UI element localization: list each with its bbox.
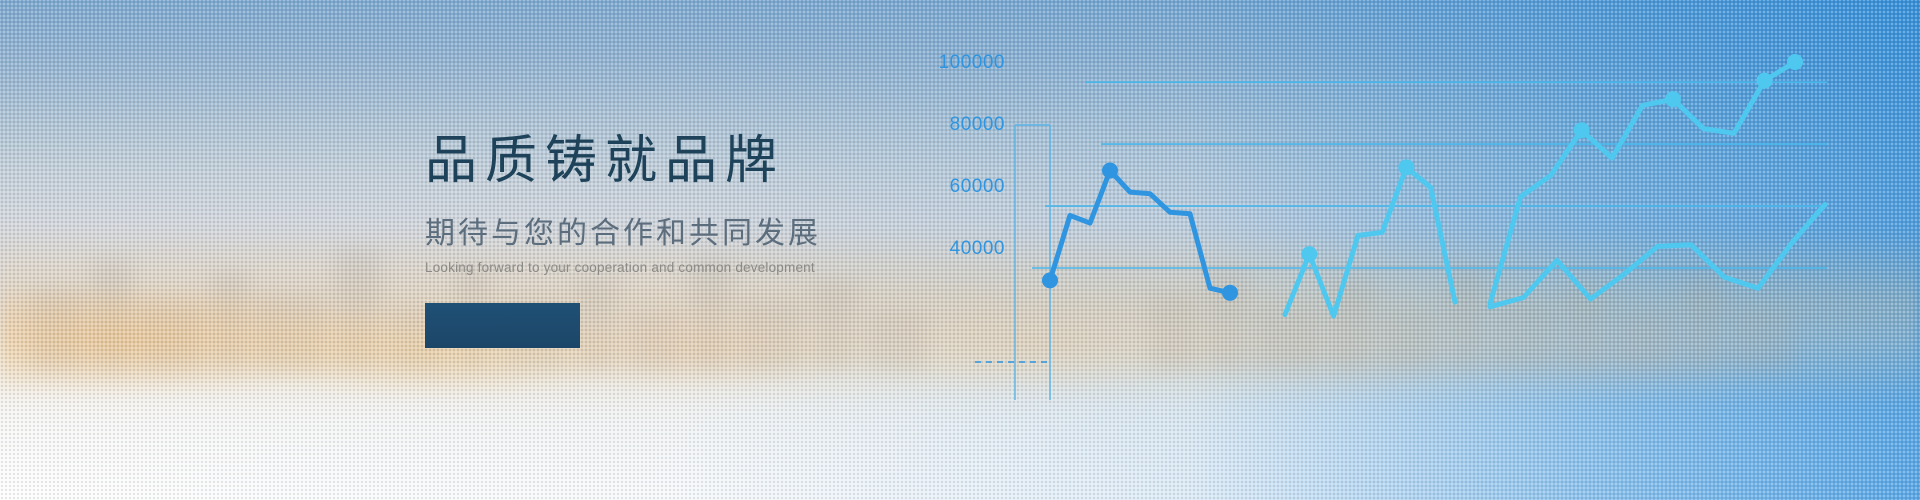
series-marker-series-1-9: [1222, 285, 1238, 301]
series-marker-series-3-10: [1787, 54, 1803, 70]
page-subtitle-en: Looking forward to your cooperation and …: [425, 261, 821, 275]
series-path-series-4: [1490, 205, 1825, 307]
series-marker-series-3-6: [1665, 91, 1681, 107]
chart-gridlines: [1032, 82, 1827, 268]
series-path-series-2: [1285, 167, 1455, 316]
series-marker-series-2-5: [1398, 159, 1414, 175]
series-marker-series-1-0: [1042, 272, 1058, 288]
chart-axes: [975, 125, 1050, 400]
y-tick-label-40000: 40000: [950, 238, 1005, 259]
series-marker-series-1-3: [1102, 163, 1118, 179]
chart-series-group: [1042, 54, 1825, 316]
series-marker-series-2-1: [1301, 246, 1317, 262]
y-tick-label-80000: 80000: [950, 114, 1005, 135]
page-subtitle: 期待与您的合作和共同发展: [425, 219, 821, 249]
series-marker-series-3-9: [1757, 73, 1773, 89]
line-chart: 400006000080000100000: [0, 0, 1920, 500]
y-tick-label-60000: 60000: [950, 176, 1005, 197]
series-marker-series-3-3: [1574, 122, 1590, 138]
promo-banner: 400006000080000100000 品质铸就品牌 期待与您的合作和共同发…: [0, 0, 1920, 500]
series-path-series-1: [1050, 171, 1230, 293]
y-tick-label-100000: 100000: [939, 52, 1005, 73]
cta-button[interactable]: [425, 303, 580, 348]
page-title: 品质铸就品牌: [425, 135, 821, 187]
chart-y-axis-labels: 400006000080000100000: [939, 52, 1005, 259]
copy-block: 品质铸就品牌 期待与您的合作和共同发展 Looking forward to y…: [425, 135, 821, 275]
